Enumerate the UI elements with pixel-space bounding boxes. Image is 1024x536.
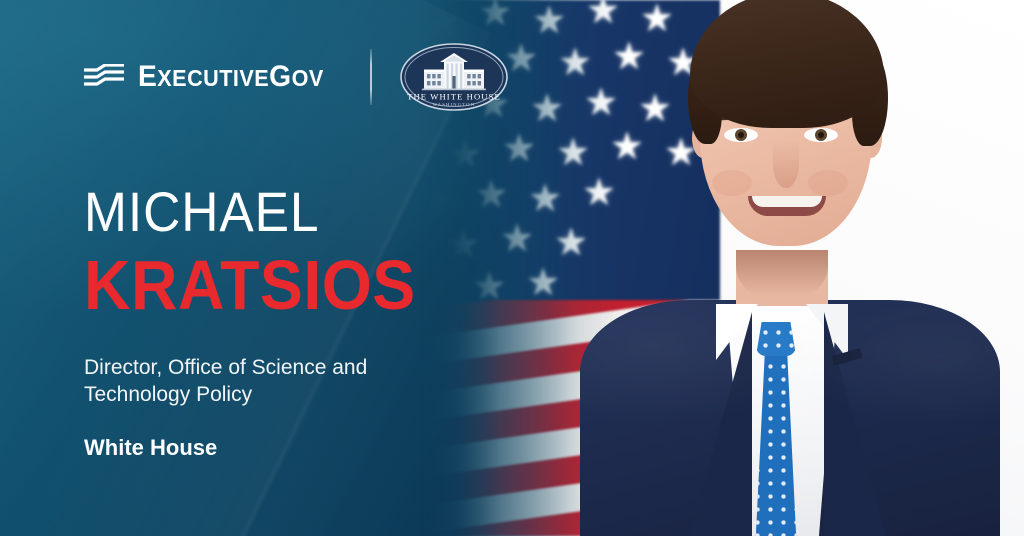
- neck-shadow: [736, 250, 828, 296]
- iris-left: [735, 129, 747, 141]
- necktie-knot-pattern: [756, 322, 796, 356]
- teeth: [752, 196, 822, 207]
- white-house-seal-icon[interactable]: THE WHITE HOUSE WASHINGTON: [400, 43, 508, 111]
- seal-line-1: THE WHITE HOUSE: [407, 92, 501, 102]
- wordmark-xecutive: XECUTIVE: [157, 65, 269, 91]
- necktie-knot: [756, 322, 796, 356]
- cheek-left: [712, 170, 752, 196]
- iris-right: [815, 129, 827, 141]
- organization-name: White House: [84, 435, 504, 461]
- executivegov-profile-card: ★ ★ ★ ★ ★ ★ ★ ★ ★ ★ ★ ★ ★ ★ ★ ★ ★ ★ ★ ★: [0, 0, 1024, 536]
- header-divider: [370, 49, 372, 105]
- eye-right: [804, 128, 838, 142]
- nose: [773, 140, 799, 188]
- executivegov-wordmark: EXECUTIVEGOV: [138, 60, 324, 94]
- portrait-photo: ★ ★ ★ ★ ★ ★ ★ ★ ★ ★ ★ ★ ★ ★ ★ ★ ★ ★ ★ ★: [420, 0, 1024, 536]
- mouth: [748, 196, 826, 216]
- pupil-left: [738, 132, 744, 138]
- wordmark-g: G: [269, 60, 291, 93]
- last-name: KRATSIOS: [84, 250, 470, 320]
- person-figure: [540, 0, 1010, 536]
- executivegov-logo[interactable]: EXECUTIVEGOV: [84, 60, 336, 94]
- wave-lines-icon: [84, 64, 124, 90]
- header-logos: EXECUTIVEGOV: [84, 46, 508, 108]
- role-title: Director, Office of Science and Technolo…: [84, 354, 414, 409]
- first-name: MICHAEL: [84, 184, 470, 240]
- wordmark-e: E: [138, 60, 157, 93]
- hair: [690, 0, 884, 128]
- pupil-right: [818, 132, 824, 138]
- wordmark-ov: OV: [292, 65, 324, 91]
- lapel-left: [690, 312, 752, 536]
- seal-line-2: WASHINGTON: [432, 102, 475, 107]
- lapel-right: [824, 312, 886, 536]
- profile-text-block: MICHAEL KRATSIOS Director, Office of Sci…: [84, 184, 504, 461]
- cheek-right: [808, 170, 848, 196]
- eye-left: [724, 128, 758, 142]
